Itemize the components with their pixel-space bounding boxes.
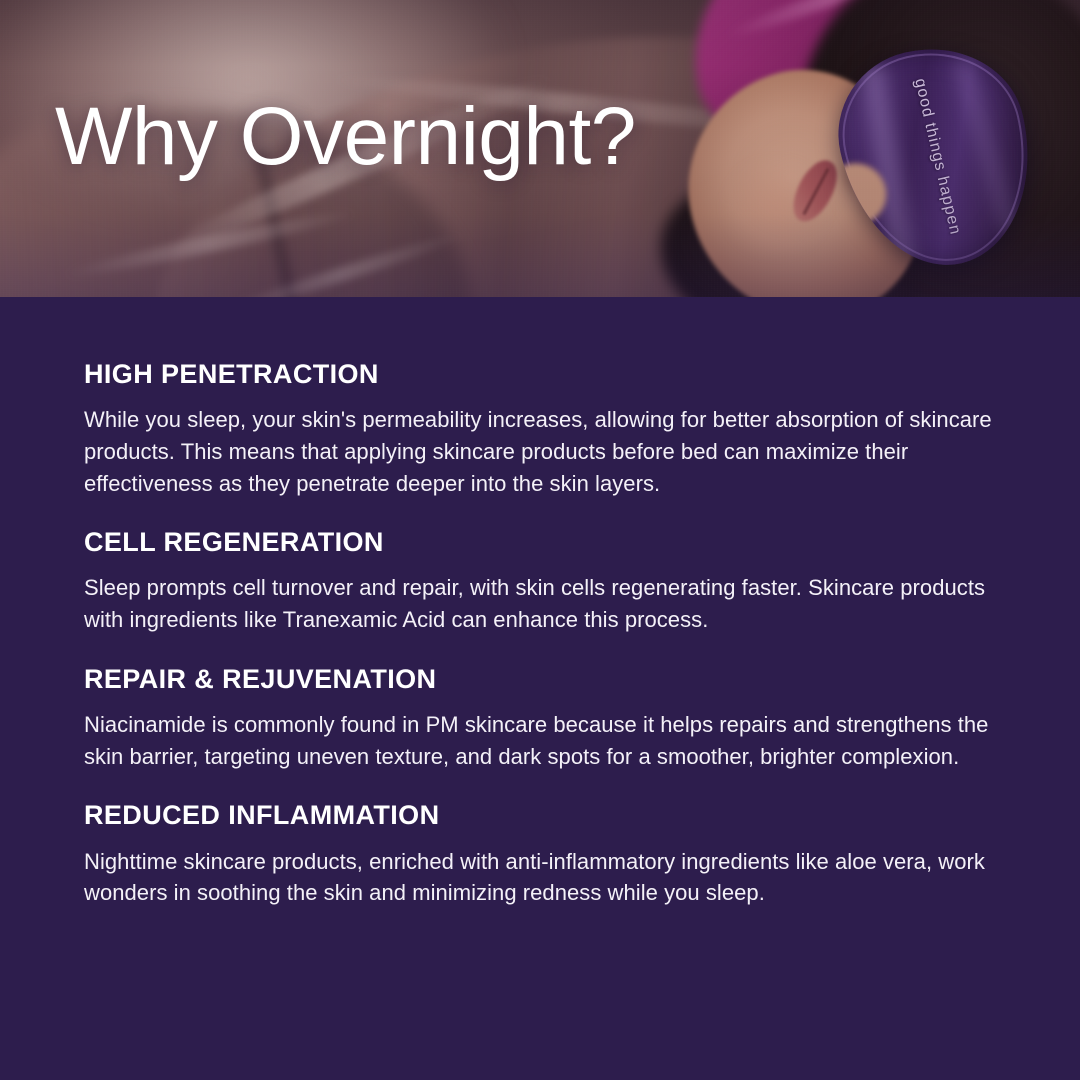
benefit-section-repair-rejuvenation: REPAIR & REJUVENATION Niacinamide is com… bbox=[84, 664, 996, 773]
poster-canvas: good things happen Why Overnight? HIGH P… bbox=[0, 0, 1080, 1080]
section-heading: HIGH PENETRACTION bbox=[84, 359, 996, 389]
section-heading: CELL REGENERATION bbox=[84, 527, 996, 557]
benefit-section-reduced-inflammation: REDUCED INFLAMMATION Nighttime skincare … bbox=[84, 800, 996, 909]
section-heading: REPAIR & REJUVENATION bbox=[84, 664, 996, 694]
benefit-section-high-penetraction: HIGH PENETRACTION While you sleep, your … bbox=[84, 359, 996, 499]
section-body: Nighttime skincare products, enriched wi… bbox=[84, 846, 996, 909]
section-body: Niacinamide is commonly found in PM skin… bbox=[84, 709, 996, 772]
page-title: Why Overnight? bbox=[55, 96, 636, 178]
section-body: Sleep prompts cell turnover and repair, … bbox=[84, 572, 996, 635]
section-body: While you sleep, your skin's permeabilit… bbox=[84, 404, 996, 499]
content-panel: HIGH PENETRACTION While you sleep, your … bbox=[0, 297, 1080, 1080]
section-heading: REDUCED INFLAMMATION bbox=[84, 800, 996, 830]
benefit-section-cell-regeneration: CELL REGENERATION Sleep prompts cell tur… bbox=[84, 527, 996, 636]
